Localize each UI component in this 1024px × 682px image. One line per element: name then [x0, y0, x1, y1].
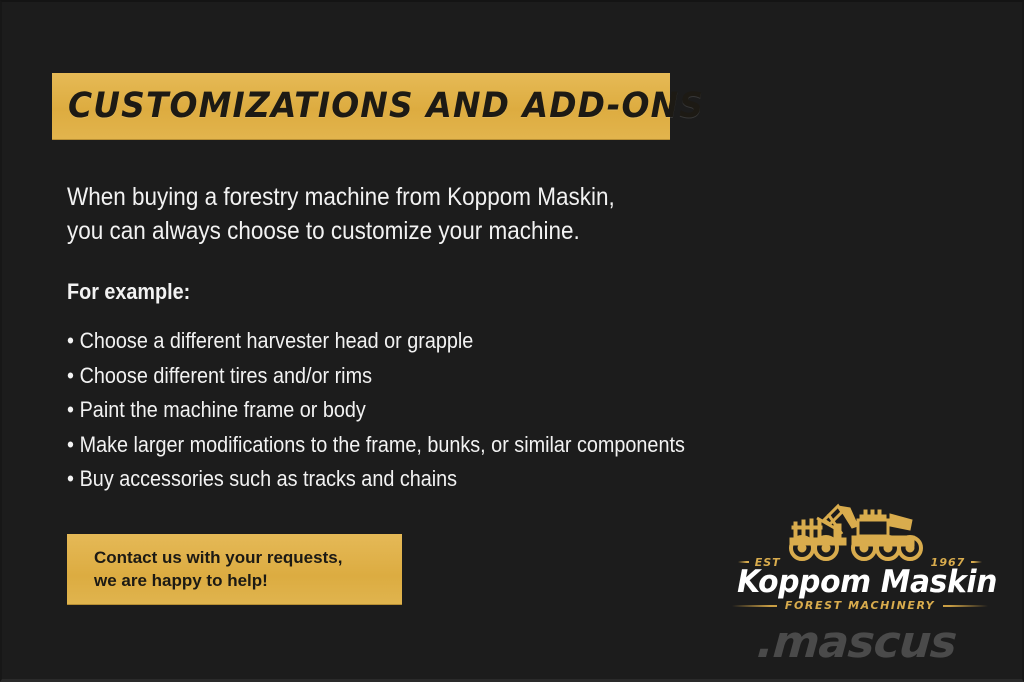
bullet-dot-icon: •: [67, 359, 80, 394]
divider-left: [738, 561, 749, 563]
contact-cta-box[interactable]: Contact us with your requests, we are ha…: [67, 534, 402, 604]
for-example-label: For example:: [67, 279, 190, 305]
list-item-label: Paint the machine frame or body: [80, 397, 366, 422]
list-item: •Choose a different harvester head or gr…: [67, 324, 751, 359]
list-item-label: Buy accessories such as tracks and chain…: [80, 466, 457, 491]
list-item: •Choose different tires and/or rims: [67, 359, 751, 394]
logo-brand-name: Koppom Maskin: [737, 564, 983, 600]
customization-options-list: •Choose a different harvester head or gr…: [67, 324, 751, 497]
intro-line-2: you can always choose to customize your …: [67, 214, 688, 248]
list-item: •Make larger modifications to the frame,…: [67, 428, 751, 463]
tagline-divider-left: [732, 605, 777, 607]
page-title: CUSTOMIZATIONS AND ADD-ONS: [68, 86, 704, 126]
bullet-dot-icon: •: [67, 393, 80, 428]
mascus-watermark: .mascus: [755, 615, 999, 670]
divider-right: [971, 561, 982, 563]
list-item: •Buy accessories such as tracks and chai…: [67, 462, 751, 497]
contact-line-1: Contact us with your requests,: [94, 546, 402, 569]
logo-tagline-row: FOREST MACHINERY: [732, 599, 988, 612]
intro-paragraph: When buying a forestry machine from Kopp…: [67, 180, 688, 248]
logo-tagline: FOREST MACHINERY: [777, 599, 943, 612]
bullet-dot-icon: •: [67, 462, 80, 497]
title-banner: CUSTOMIZATIONS AND ADD-ONS: [52, 73, 670, 139]
forwarder-machine-icon: [772, 500, 932, 562]
intro-line-1: When buying a forestry machine from Kopp…: [67, 180, 688, 214]
list-item-label: Choose a different harvester head or gra…: [80, 328, 474, 353]
contact-line-2: we are happy to help!: [94, 569, 402, 592]
list-item-label: Choose different tires and/or rims: [80, 363, 372, 388]
list-item: •Paint the machine frame or body: [67, 393, 751, 428]
tagline-divider-right: [943, 605, 988, 607]
koppom-maskin-logo: EST 1967 Koppom Maskin FOREST MACHINERY: [732, 500, 988, 612]
bullet-dot-icon: •: [67, 324, 80, 359]
bullet-dot-icon: •: [67, 428, 80, 463]
promo-slide: CUSTOMIZATIONS AND ADD-ONS When buying a…: [0, 0, 1024, 682]
list-item-label: Make larger modifications to the frame, …: [80, 432, 685, 457]
